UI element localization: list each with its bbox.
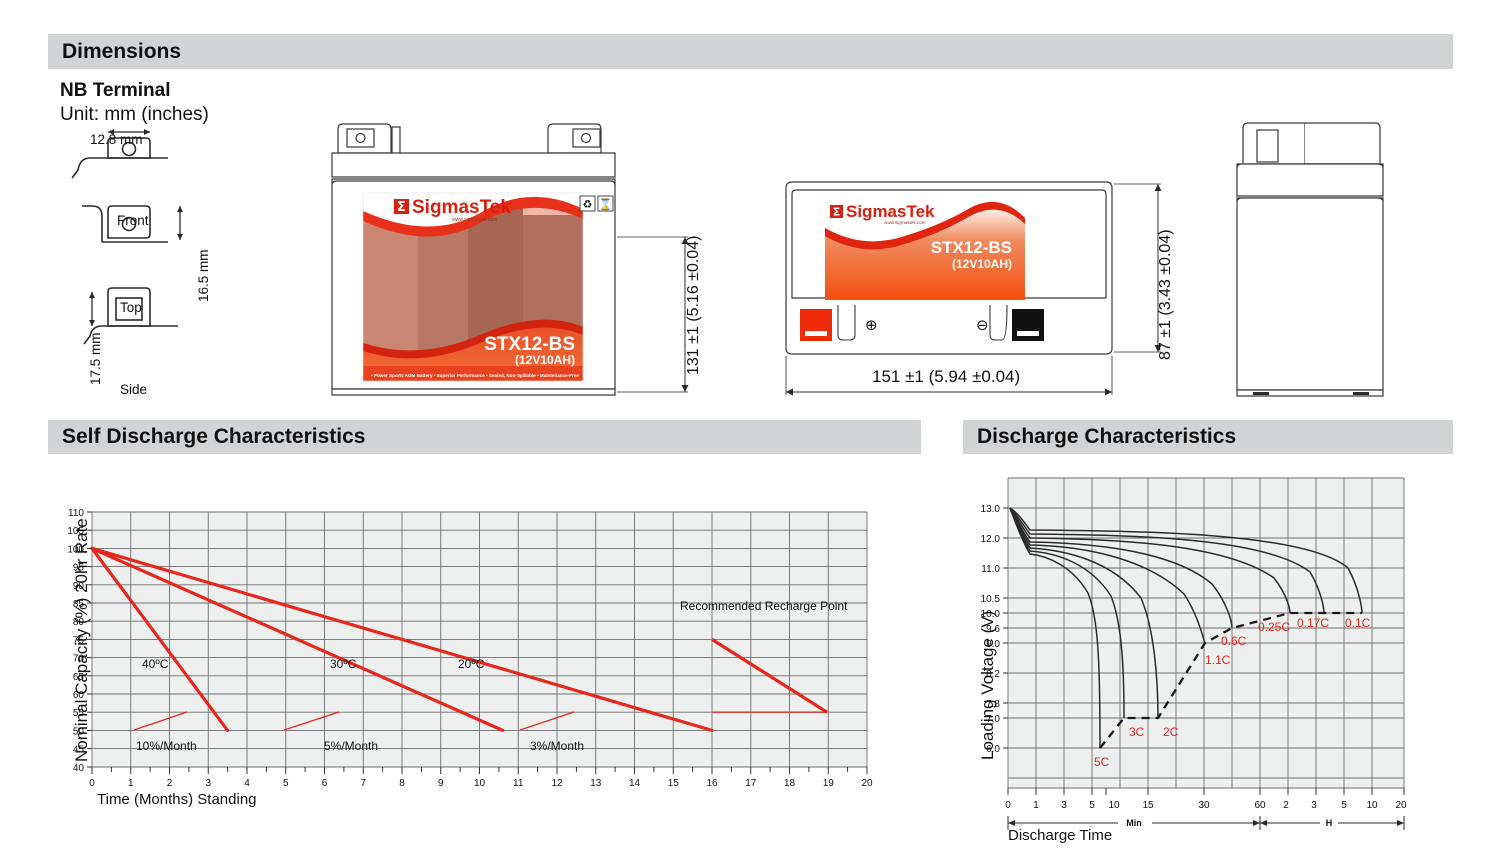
svg-text:7: 7 [360,778,366,789]
svg-text:8.2: 8.2 [986,669,1000,680]
positive-terminal-block [800,309,832,341]
polarity-negative-icon: ⊖ [976,316,989,334]
battery-rating-front: (12V10AH) [515,353,575,367]
svg-text:110: 110 [68,508,84,519]
svg-text:11.0: 11.0 [981,564,1000,575]
terminal-side-label: Side [120,382,147,397]
battery-model-top: STX12-BS [931,238,1012,257]
label-2c: 2C [1163,725,1179,739]
section-header-dimensions: Dimensions [48,34,1453,69]
battery-width-dimension: 151 ±1 (5.94 ±0.04) [872,367,1020,387]
label-0.1c: 0.1C [1345,616,1371,630]
svg-text:50: 50 [73,726,85,737]
svg-text:7.8: 7.8 [986,699,1000,710]
svg-text:18: 18 [784,778,796,789]
svg-text:55: 55 [73,708,85,719]
svg-text:12.0: 12.0 [981,534,1001,545]
svg-text:5: 5 [1341,800,1347,811]
svg-text:95: 95 [73,563,85,574]
battery-features-front: • Power Sports AGM Battery • Superior Pe… [371,373,579,378]
nb-terminal-unit: Unit: mm (inches) [60,104,209,126]
svg-text:40: 40 [73,763,85,774]
section-title-dimensions: Dimensions [62,40,181,64]
label-1.1c: 1.1C [1205,653,1231,667]
svg-text:9.6: 9.6 [986,624,1000,635]
svg-text:10: 10 [474,778,486,789]
annotation-10-percent: 10%/Month [136,739,197,753]
label-5c: 5C [1094,755,1110,769]
polarity-positive-icon: ⊕ [865,316,878,334]
svg-text:10: 10 [1366,800,1378,811]
brand-website-top: www.sigmastek.com [884,220,926,225]
svg-text:15: 15 [668,778,680,789]
svg-text:65: 65 [73,672,85,683]
self-discharge-plot: 40ºC 30ºC 20ºC 10%/Month 5%/Month 3%/Mon… [92,512,882,777]
battery-depth-dimension: 87 ±1 (3.43 ±0.04) [1157,229,1175,360]
positive-terminal-slot [805,331,827,336]
svg-text:8: 8 [399,778,405,789]
terminal-height-label: 17.5 mm [88,332,103,385]
svg-text:19: 19 [823,778,835,789]
annotation-30c: 30ºC [330,657,357,671]
battery-front-view: Σ SigmasTek www.sigmastek.com ♻ ⌛ STX12-… [330,115,670,400]
section-header-self-discharge: Self Discharge Characteristics [48,420,921,454]
svg-text:♻: ♻ [583,198,593,211]
label-0.25c: 0.25C [1258,620,1290,634]
brand-mark-glyph: Σ [397,200,406,215]
nb-terminal-block: NB Terminal Unit: mm (inches) [60,80,209,126]
svg-text:75: 75 [73,635,85,646]
svg-text:5: 5 [283,778,289,789]
annotation-20c: 20ºC [458,657,485,671]
svg-text:5: 5 [1089,800,1095,811]
svg-text:0: 0 [1005,800,1011,811]
svg-text:9.0: 9.0 [986,639,1000,650]
svg-text:4: 4 [244,778,250,789]
svg-text:17: 17 [745,778,757,789]
svg-text:100: 100 [67,544,84,555]
annotation-40c: 40ºC [142,657,169,671]
svg-text:90: 90 [73,581,85,592]
svg-text:20: 20 [861,778,873,789]
svg-text:60: 60 [73,690,85,701]
battery-model-front: STX12-BS [484,334,575,355]
svg-text:13: 13 [590,778,602,789]
brand-name-top: SigmasTek [846,202,935,221]
self-discharge-xlabel: Time (Months) Standing [97,791,257,808]
svg-text:2: 2 [167,778,173,789]
label-0.17c: 0.17C [1297,616,1329,630]
annotation-5-percent: 5%/Month [324,739,378,753]
axis-unit-hour: H [1326,818,1333,828]
terminal-width-label: 12.8 mm [90,132,143,147]
svg-text:10.0: 10.0 [981,609,1001,620]
svg-text:6.0: 6.0 [986,744,1000,755]
terminal-top-label: Top [120,300,142,315]
axis-unit-min: Min [1126,818,1142,828]
svg-text:3: 3 [1311,800,1317,811]
svg-text:1: 1 [1033,800,1039,811]
svg-text:6: 6 [322,778,328,789]
svg-text:85: 85 [73,599,85,610]
svg-text:13.0: 13.0 [981,504,1001,515]
svg-text:12: 12 [551,778,563,789]
svg-text:15: 15 [1142,800,1154,811]
section-header-discharge: Discharge Characteristics [963,420,1453,454]
recycle-icon: ♻ [580,196,595,211]
terminal-front-label: Front [117,213,149,228]
svg-text:45: 45 [73,745,85,756]
svg-text:14: 14 [629,778,641,789]
svg-text:7.0: 7.0 [986,714,1000,725]
svg-text:2: 2 [1283,800,1289,811]
battery-side-view [1235,118,1405,398]
svg-text:60: 60 [1254,800,1266,811]
section-title-discharge: Discharge Characteristics [977,425,1236,449]
svg-text:20: 20 [1395,800,1407,811]
svg-text:105: 105 [67,526,84,537]
svg-text:80: 80 [73,617,85,628]
svg-text:3: 3 [205,778,211,789]
battery-height-dimension: 131 ±1 (5.16 ±0.04) [685,236,703,375]
discharge-plot: 5C 3C 2C 1.1C 0.6C 0.25C 0.17C 0.1C 13.0… [1008,478,1418,838]
svg-text:30: 30 [1198,800,1210,811]
annotation-3-percent: 3%/Month [530,739,584,753]
battery-rating-top: (12V10AH) [952,257,1012,271]
svg-text:11: 11 [513,778,524,789]
svg-text:70: 70 [73,654,85,665]
brand-mark-glyph-top: Σ [833,206,841,219]
terminal-depth-label: 16.5 mm [196,249,211,302]
svg-text:9: 9 [438,778,444,789]
negative-terminal-block [1012,309,1044,341]
annotation-recharge-point: Recommended Recharge Point [680,599,848,613]
label-3c: 3C [1129,725,1145,739]
negative-terminal-slot [1017,331,1039,336]
svg-text:10: 10 [1108,800,1120,811]
brand-name-front: SigmasTek [412,197,511,218]
svg-text:0: 0 [89,778,95,789]
svg-text:3: 3 [1061,800,1067,811]
svg-text:10.5: 10.5 [981,594,1001,605]
svg-text:⌛: ⌛ [599,198,613,211]
section-title-self-discharge: Self Discharge Characteristics [62,425,365,449]
hourglass-icon: ⌛ [598,196,613,211]
nb-terminal-title: NB Terminal [60,80,209,102]
brand-website-front: www.sigmastek.com [452,217,497,223]
svg-text:1: 1 [128,778,134,789]
svg-text:16: 16 [706,778,718,789]
label-0.6c: 0.6C [1221,634,1247,648]
